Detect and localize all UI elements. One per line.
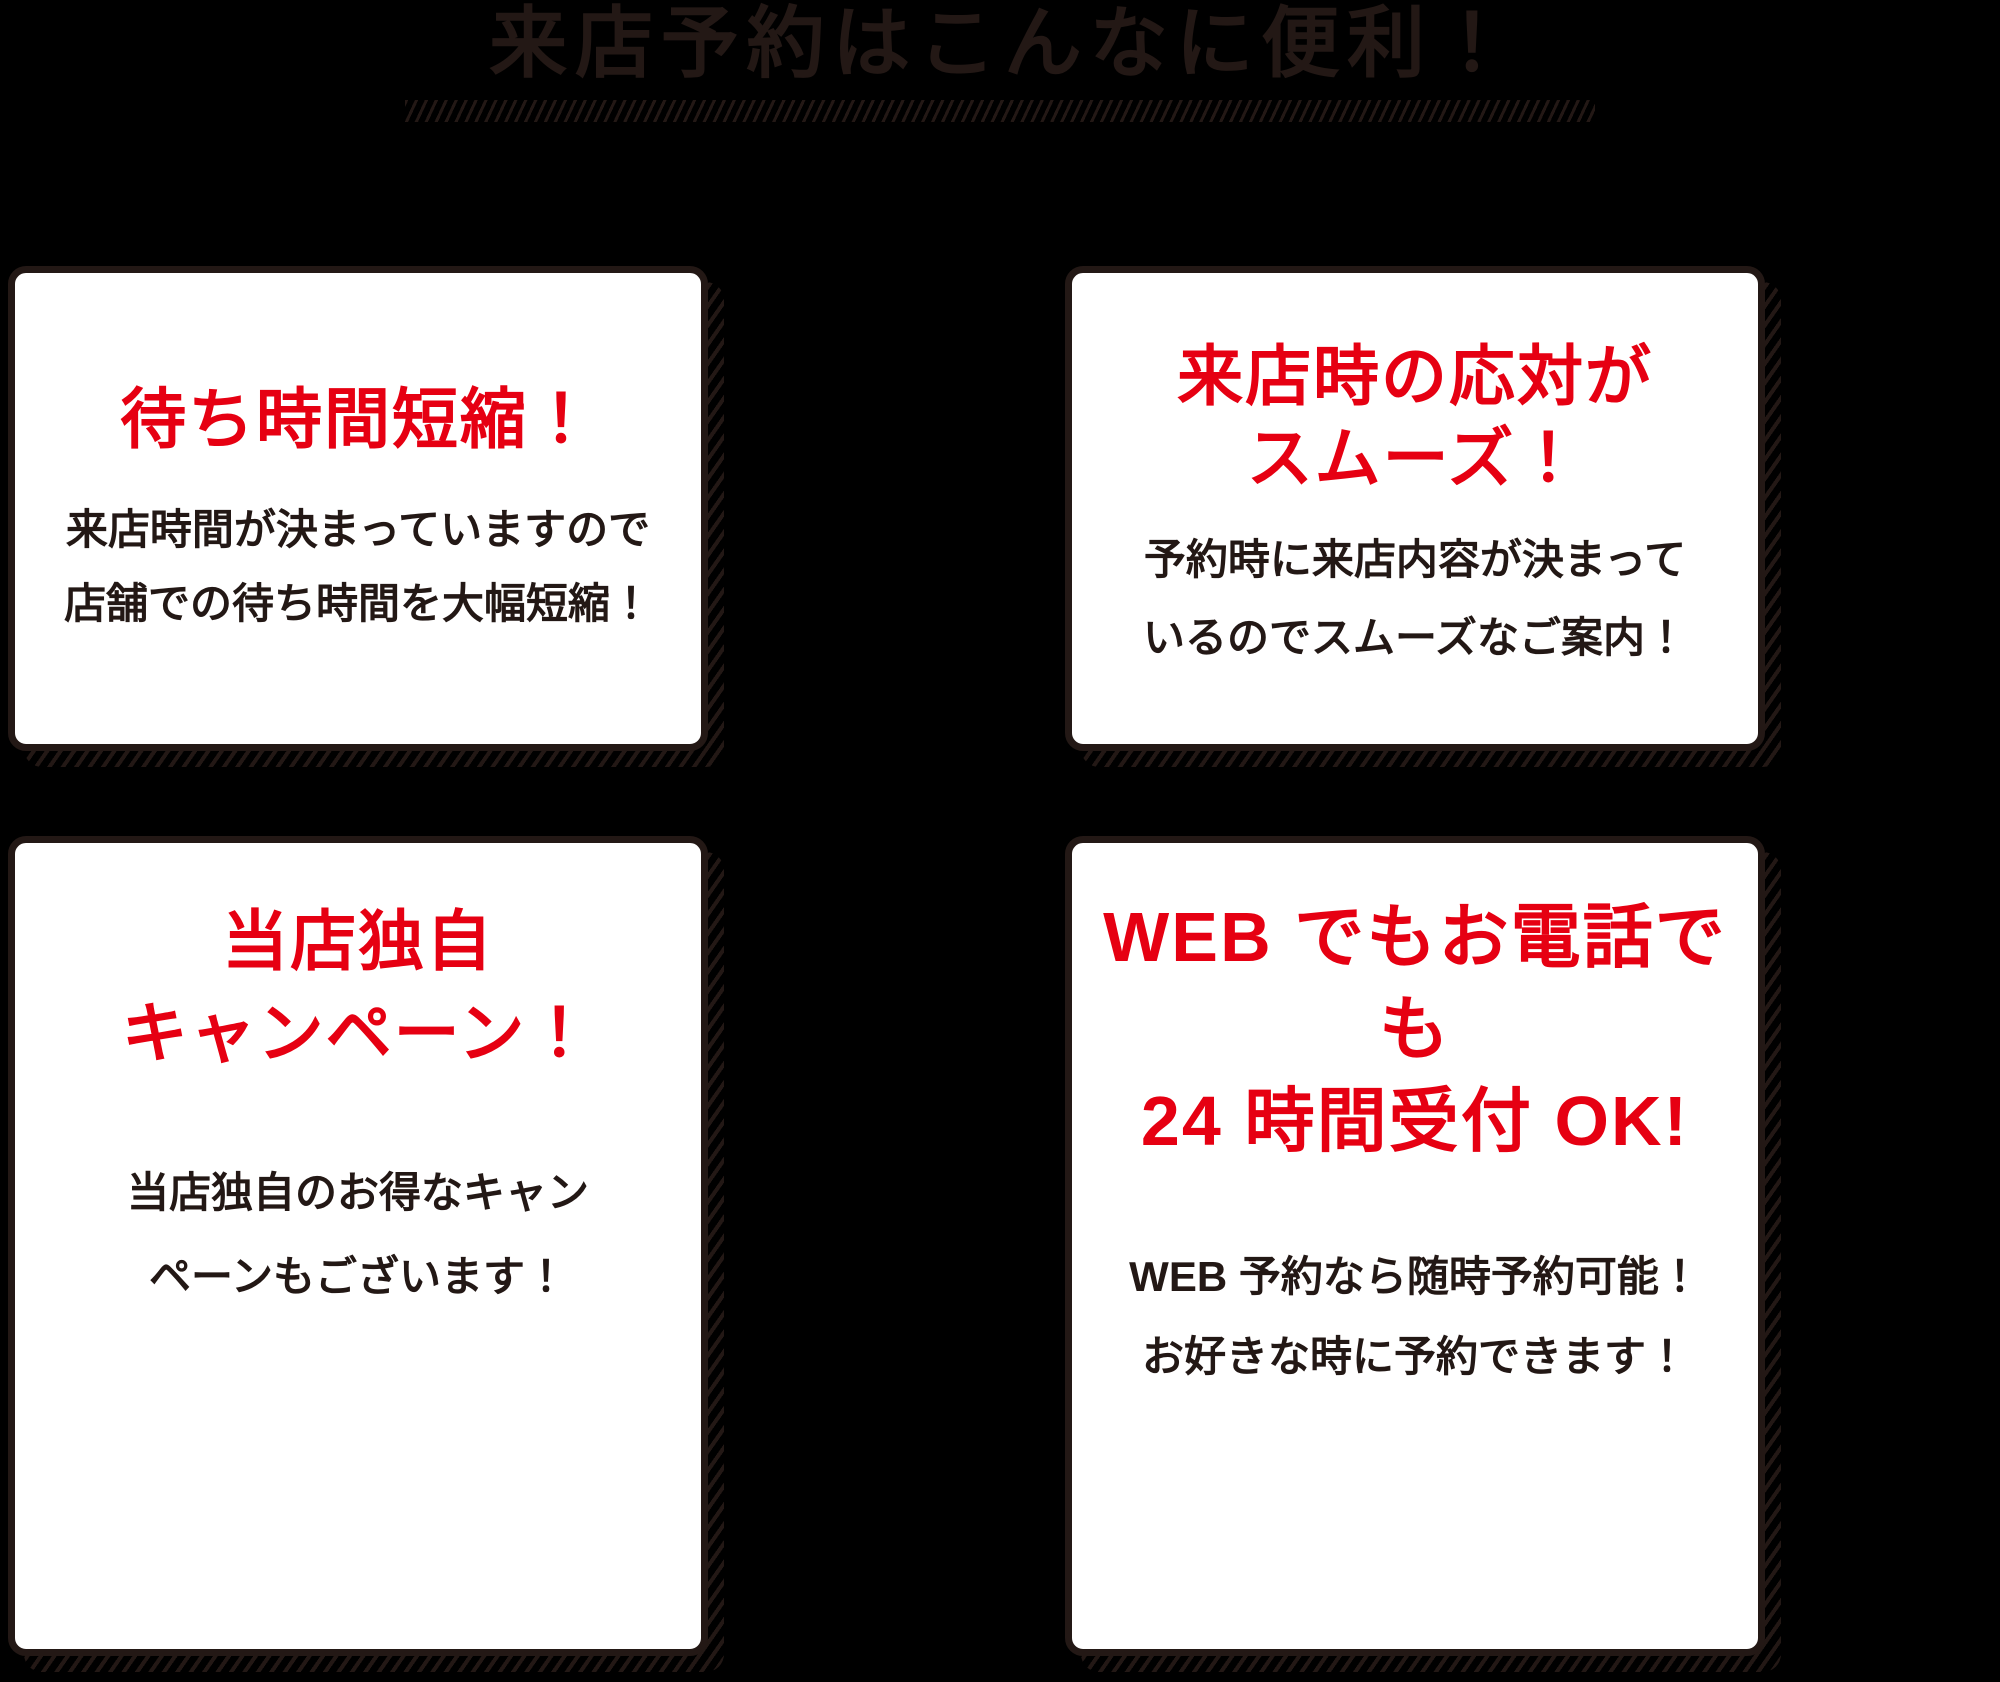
benefit-card-3-heading: 当店独自 キャンペーン！ [41,843,675,1079]
benefit-card-grid: 待ち時間短縮！ 来店時間が決まっていますので 店舗での待ち時間を大幅短縮！ 来店… [0,258,2000,1682]
title-underline-decoration [405,100,1595,122]
benefit-card-1-body: 来店時間が決まっていますので 店舗での待ち時間を大幅短縮！ [41,459,675,641]
benefit-card-1[interactable]: 待ち時間短縮！ 来店時間が決まっていますので 店舗での待ち時間を大幅短縮！ [8,266,708,751]
benefit-card-4[interactable]: WEB でもお電話でも 24 時間受付 OK! WEB 予約なら随時予約可能！ … [1065,836,1765,1656]
benefit-card-3-body: 当店独自のお得なキャン ペーンもございます！ [41,1079,675,1319]
benefit-card-4-body: WEB 予約なら随時予約可能！ お好きな時に予約できます！ [1098,1167,1732,1397]
page-title: 来店予約はこんなに便利！ [0,0,2000,86]
benefit-card-2-heading: 来店時の応対が スムーズ！ [1098,273,1732,499]
benefit-card-4-content: WEB でもお電話でも 24 時間受付 OK! WEB 予約なら随時予約可能！ … [1072,843,1758,1397]
benefit-card-2-content: 来店時の応対が スムーズ！ 予約時に来店内容が決まって いるのでスムーズなご案内… [1072,273,1758,677]
benefit-card-3[interactable]: 当店独自 キャンペーン！ 当店独自のお得なキャン ペーンもございます！ [8,836,708,1656]
benefit-card-1-heading: 待ち時間短縮！ [41,273,675,459]
benefit-card-2-body: 予約時に来店内容が決まって いるのでスムーズなご案内！ [1098,499,1732,677]
benefit-card-2[interactable]: 来店時の応対が スムーズ！ 予約時に来店内容が決まって いるのでスムーズなご案内… [1065,266,1765,751]
benefit-card-1-content: 待ち時間短縮！ 来店時間が決まっていますので 店舗での待ち時間を大幅短縮！ [15,273,701,641]
benefit-card-3-content: 当店独自 キャンペーン！ 当店独自のお得なキャン ペーンもございます！ [15,843,701,1319]
page-header: 来店予約はこんなに便利！ [0,0,2000,122]
promo-page: 来店予約はこんなに便利！ 待ち時間短縮！ 来店時間が決まっていますので 店舗での… [0,0,2000,1682]
benefit-card-4-heading: WEB でもお電話でも 24 時間受付 OK! [1098,843,1732,1167]
